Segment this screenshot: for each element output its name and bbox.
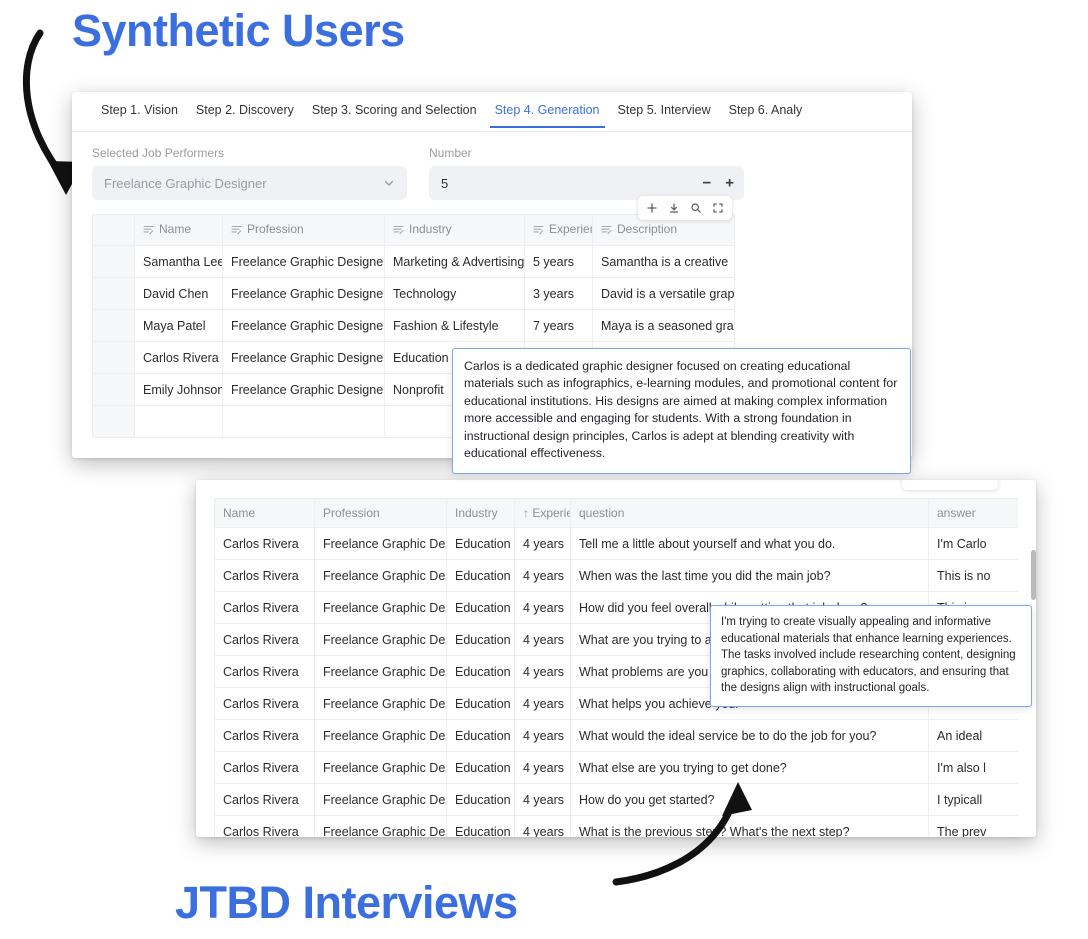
cell-industry: Technology <box>385 278 525 310</box>
cell-profession: Freelance Graphic Designer <box>223 310 385 342</box>
cell-profession: Freelance Graphic Designer <box>315 592 447 624</box>
column-header-question[interactable]: question <box>571 499 929 528</box>
table-row[interactable]: Carlos Rivera Freelance Graphic Designer… <box>215 720 1019 752</box>
row-gutter <box>93 310 135 342</box>
table-row[interactable]: Carlos Rivera Freelance Graphic Designer… <box>215 752 1019 784</box>
cell-profession: Freelance Graphic Designer <box>315 816 447 838</box>
column-header-name[interactable]: Name <box>215 499 315 528</box>
column-header-industry[interactable]: Industry <box>447 499 515 528</box>
job-performer-select-value: Freelance Graphic Designer <box>104 176 267 191</box>
interviews-mini-toolbar[interactable] <box>902 480 998 490</box>
cell-experience: 4 years <box>515 560 571 592</box>
cell-profession: Freelance Graphic Designer <box>315 752 447 784</box>
cell-profession: Freelance Graphic Designer <box>315 720 447 752</box>
column-header-profession[interactable]: Profession <box>315 499 447 528</box>
cell-industry: Marketing & Advertising <box>385 246 525 278</box>
cell-name: Carlos Rivera <box>215 656 315 688</box>
cell-name: Carlos Rivera <box>215 816 315 838</box>
tab-step-6-analysis[interactable]: Step 6. Analy <box>720 98 812 127</box>
row-gutter <box>93 278 135 310</box>
cell-profession <box>223 406 385 438</box>
answer-tooltip-popup: I'm trying to create visually appealing … <box>710 605 1032 707</box>
cell-experience: 4 years <box>515 624 571 656</box>
column-header-industry[interactable]: Industry <box>385 215 525 246</box>
cell-industry: Education <box>447 528 515 560</box>
filter-icon <box>533 224 544 238</box>
cell-question: What else are you trying to get done? <box>571 752 929 784</box>
cell-name <box>135 406 223 438</box>
filter-icon <box>393 224 404 238</box>
column-header-profession[interactable]: Profession <box>223 215 385 246</box>
cell-experience: 4 years <box>515 816 571 838</box>
table-mini-toolbar <box>638 196 732 220</box>
cell-profession: Freelance Graphic Designer <box>315 784 447 816</box>
cell-experience: 4 years <box>515 752 571 784</box>
cell-name: Carlos Rivera <box>135 342 223 374</box>
cell-answer: An ideal <box>929 720 1019 752</box>
tab-step-4-generation[interactable]: Step 4. Generation <box>486 98 609 127</box>
cell-answer: The prev <box>929 816 1019 838</box>
cell-name: Carlos Rivera <box>215 624 315 656</box>
cell-industry: Education <box>447 752 515 784</box>
cell-name: Carlos Rivera <box>215 560 315 592</box>
selected-job-performers-field: Selected Job Performers Freelance Graphi… <box>92 146 407 200</box>
cell-profession: Freelance Graphic Designer <box>315 624 447 656</box>
column-header-name[interactable]: Name <box>135 215 223 246</box>
cell-name: Carlos Rivera <box>215 784 315 816</box>
table-row[interactable]: Carlos Rivera Freelance Graphic Designer… <box>215 816 1019 838</box>
cell-question: How do you get started? <box>571 784 929 816</box>
column-header-experience-label: Experience_ <box>549 222 593 236</box>
cell-description: David is a versatile grap <box>593 278 735 310</box>
cell-profession: Freelance Graphic Designer <box>223 374 385 406</box>
cell-profession: Freelance Graphic Designer <box>315 656 447 688</box>
cell-experience: 4 years <box>515 688 571 720</box>
cell-name: Carlos Rivera <box>215 592 315 624</box>
row-gutter <box>93 246 135 278</box>
cell-experience: 4 years <box>515 592 571 624</box>
cell-name: Emily Johnson <box>135 374 223 406</box>
cell-question: When was the last time you did the main … <box>571 560 929 592</box>
cell-profession: Freelance Graphic Designer <box>315 528 447 560</box>
cell-name: Carlos Rivera <box>215 720 315 752</box>
cell-experience: 4 years <box>515 784 571 816</box>
number-input[interactable]: 5 − + <box>429 166 744 200</box>
cell-industry: Education <box>447 688 515 720</box>
column-header-experience-sorted-asc[interactable]: ↑ Experien <box>515 499 571 528</box>
cell-experience: 4 years <box>515 656 571 688</box>
column-header-name-label: Name <box>159 222 191 236</box>
cell-profession: Freelance Graphic Designer <box>223 246 385 278</box>
number-field: Number 5 − + <box>429 146 744 200</box>
cell-industry: Education <box>447 784 515 816</box>
cell-industry: Education <box>447 560 515 592</box>
number-stepper: − + <box>702 176 734 191</box>
column-header-profession-label: Profession <box>247 222 304 236</box>
number-input-value: 5 <box>441 176 448 191</box>
cell-profession: Freelance Graphic Designer <box>315 560 447 592</box>
row-gutter <box>93 374 135 406</box>
page-title-synthetic-users: Synthetic Users <box>72 5 405 57</box>
cell-industry: Education <box>447 720 515 752</box>
cell-industry: Education <box>447 624 515 656</box>
cell-profession: Freelance Graphic Designer <box>315 688 447 720</box>
tab-step-5-interview[interactable]: Step 5. Interview <box>609 98 720 127</box>
column-header-answer[interactable]: answer <box>929 499 1019 528</box>
filter-icon <box>231 224 242 238</box>
cell-experience: 4 years <box>515 528 571 560</box>
column-header-description-label: Description <box>617 222 677 236</box>
number-decrement-button[interactable]: − <box>702 176 711 191</box>
tab-step-3-scoring-and-selection[interactable]: Step 3. Scoring and Selection <box>303 98 486 127</box>
selected-job-performers-label: Selected Job Performers <box>92 146 407 160</box>
cell-experience: 3 years <box>525 278 593 310</box>
cell-industry: Fashion & Lifestyle <box>385 310 525 342</box>
cell-question: What is the previous step? What's the ne… <box>571 816 929 838</box>
table-row[interactable]: David Chen Freelance Graphic Designer Te… <box>93 278 735 310</box>
job-performer-select[interactable]: Freelance Graphic Designer <box>92 166 407 200</box>
table-header-row: Name Profession Industry ↑ Experien ques… <box>215 499 1019 528</box>
cell-industry: Education <box>447 816 515 838</box>
row-gutter <box>93 342 135 374</box>
table-header-row: Name Profession Industry Experience_ Des… <box>93 215 735 246</box>
cell-name: Carlos Rivera <box>215 528 315 560</box>
step-tabbar: Step 1. Vision Step 2. Discovery Step 3.… <box>72 98 912 132</box>
number-label: Number <box>429 146 744 160</box>
column-header-gutter <box>93 215 135 246</box>
vertical-scrollbar-thumb[interactable] <box>1031 550 1036 600</box>
page-title-jtbd-interviews: JTBD Interviews <box>175 877 518 929</box>
cell-experience: 5 years <box>525 246 593 278</box>
table-row[interactable]: Carlos Rivera Freelance Graphic Designer… <box>215 528 1019 560</box>
filter-icon <box>143 224 154 238</box>
chevron-down-icon <box>383 177 395 189</box>
cell-question: What would the ideal service be to do th… <box>571 720 929 752</box>
table-row[interactable]: Carlos Rivera Freelance Graphic Designer… <box>215 560 1019 592</box>
cell-industry: Education <box>447 656 515 688</box>
cell-name: Maya Patel <box>135 310 223 342</box>
cell-name: David Chen <box>135 278 223 310</box>
cell-answer: I typicall <box>929 784 1019 816</box>
cell-experience: 4 years <box>515 720 571 752</box>
table-row[interactable]: Carlos Rivera Freelance Graphic Designer… <box>215 784 1019 816</box>
cell-description: Samantha is a creative <box>593 246 735 278</box>
cell-industry: Education <box>447 592 515 624</box>
column-header-industry-label: Industry <box>409 222 452 236</box>
tab-step-1-vision[interactable]: Step 1. Vision <box>92 98 187 127</box>
cell-answer: This is no <box>929 560 1019 592</box>
fullscreen-icon[interactable] <box>707 197 729 219</box>
cell-name: Carlos Rivera <box>215 752 315 784</box>
cell-answer: I'm Carlo <box>929 528 1019 560</box>
generation-form: Selected Job Performers Freelance Graphi… <box>72 132 912 200</box>
cell-name: Samantha Lee <box>135 246 223 278</box>
description-tooltip-popup: Carlos is a dedicated graphic designer f… <box>452 348 911 474</box>
download-icon[interactable] <box>663 197 685 219</box>
tab-step-2-discovery[interactable]: Step 2. Discovery <box>187 98 303 127</box>
search-icon[interactable] <box>685 197 707 219</box>
cell-profession: Freelance Graphic Designer <box>223 278 385 310</box>
column-header-experience[interactable]: Experience_ <box>525 215 593 246</box>
cell-answer: I'm also l <box>929 752 1019 784</box>
cell-profession: Freelance Graphic Designer <box>223 342 385 374</box>
row-gutter <box>93 406 135 438</box>
cell-experience: 7 years <box>525 310 593 342</box>
number-increment-button[interactable]: + <box>725 176 734 191</box>
table-row[interactable]: Samantha Lee Freelance Graphic Designer … <box>93 246 735 278</box>
table-row[interactable]: Maya Patel Freelance Graphic Designer Fa… <box>93 310 735 342</box>
filter-icon <box>601 224 612 238</box>
add-icon[interactable] <box>641 197 663 219</box>
cell-description: Maya is a seasoned gra <box>593 310 735 342</box>
cell-name: Carlos Rivera <box>215 688 315 720</box>
cell-question: Tell me a little about yourself and what… <box>571 528 929 560</box>
